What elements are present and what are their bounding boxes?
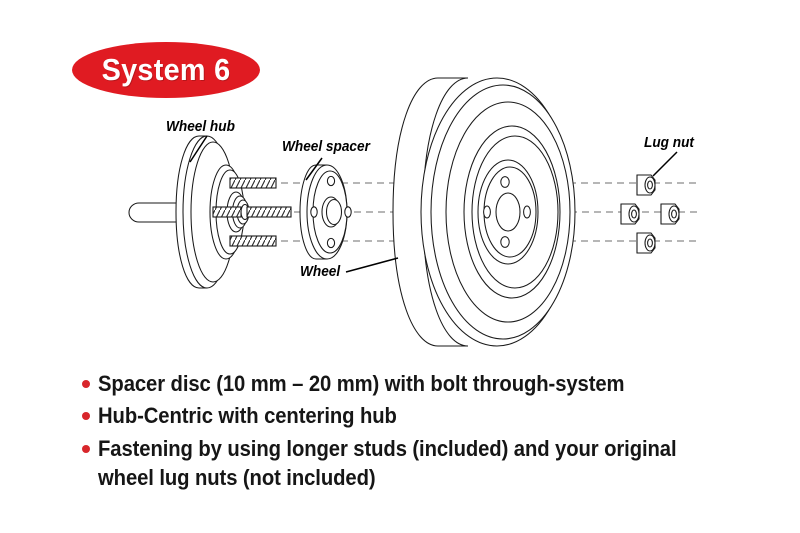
lug-nut-top bbox=[637, 175, 655, 195]
callout-label-wheel: Wheel bbox=[300, 264, 340, 280]
bullet-dot-icon bbox=[82, 380, 90, 388]
wheel-spacer-component bbox=[300, 165, 351, 259]
lug-nut-bottom bbox=[637, 233, 655, 253]
feature-list-item: Fastening by using longer studs (include… bbox=[82, 434, 742, 493]
feature-list-item: Hub-Centric with centering hub bbox=[82, 401, 742, 430]
lug-nut-middle-left bbox=[621, 204, 639, 224]
axle-shaft bbox=[129, 203, 180, 222]
bullet-dot-icon bbox=[82, 445, 90, 453]
callout-label-lug-nut: Lug nut bbox=[644, 135, 694, 151]
feature-text: Spacer disc (10 mm – 20 mm) with bolt th… bbox=[98, 369, 624, 398]
feature-text: Hub-Centric with centering hub bbox=[98, 401, 397, 430]
feature-list: Spacer disc (10 mm – 20 mm) with bolt th… bbox=[82, 369, 742, 495]
leader-wheel bbox=[346, 258, 398, 272]
wheel-component bbox=[393, 78, 575, 346]
wheel-spacer-assembly-diagram bbox=[0, 0, 800, 370]
feature-list-item: Spacer disc (10 mm – 20 mm) with bolt th… bbox=[82, 369, 742, 398]
lug-nut-middle-right bbox=[661, 204, 679, 224]
leader-lug-nut bbox=[653, 152, 677, 176]
bullet-dot-icon bbox=[82, 412, 90, 420]
feature-text: Fastening by using longer studs (include… bbox=[98, 434, 677, 493]
callout-label-wheel-spacer: Wheel spacer bbox=[282, 139, 370, 155]
callout-label-wheel-hub: Wheel hub bbox=[166, 119, 235, 135]
